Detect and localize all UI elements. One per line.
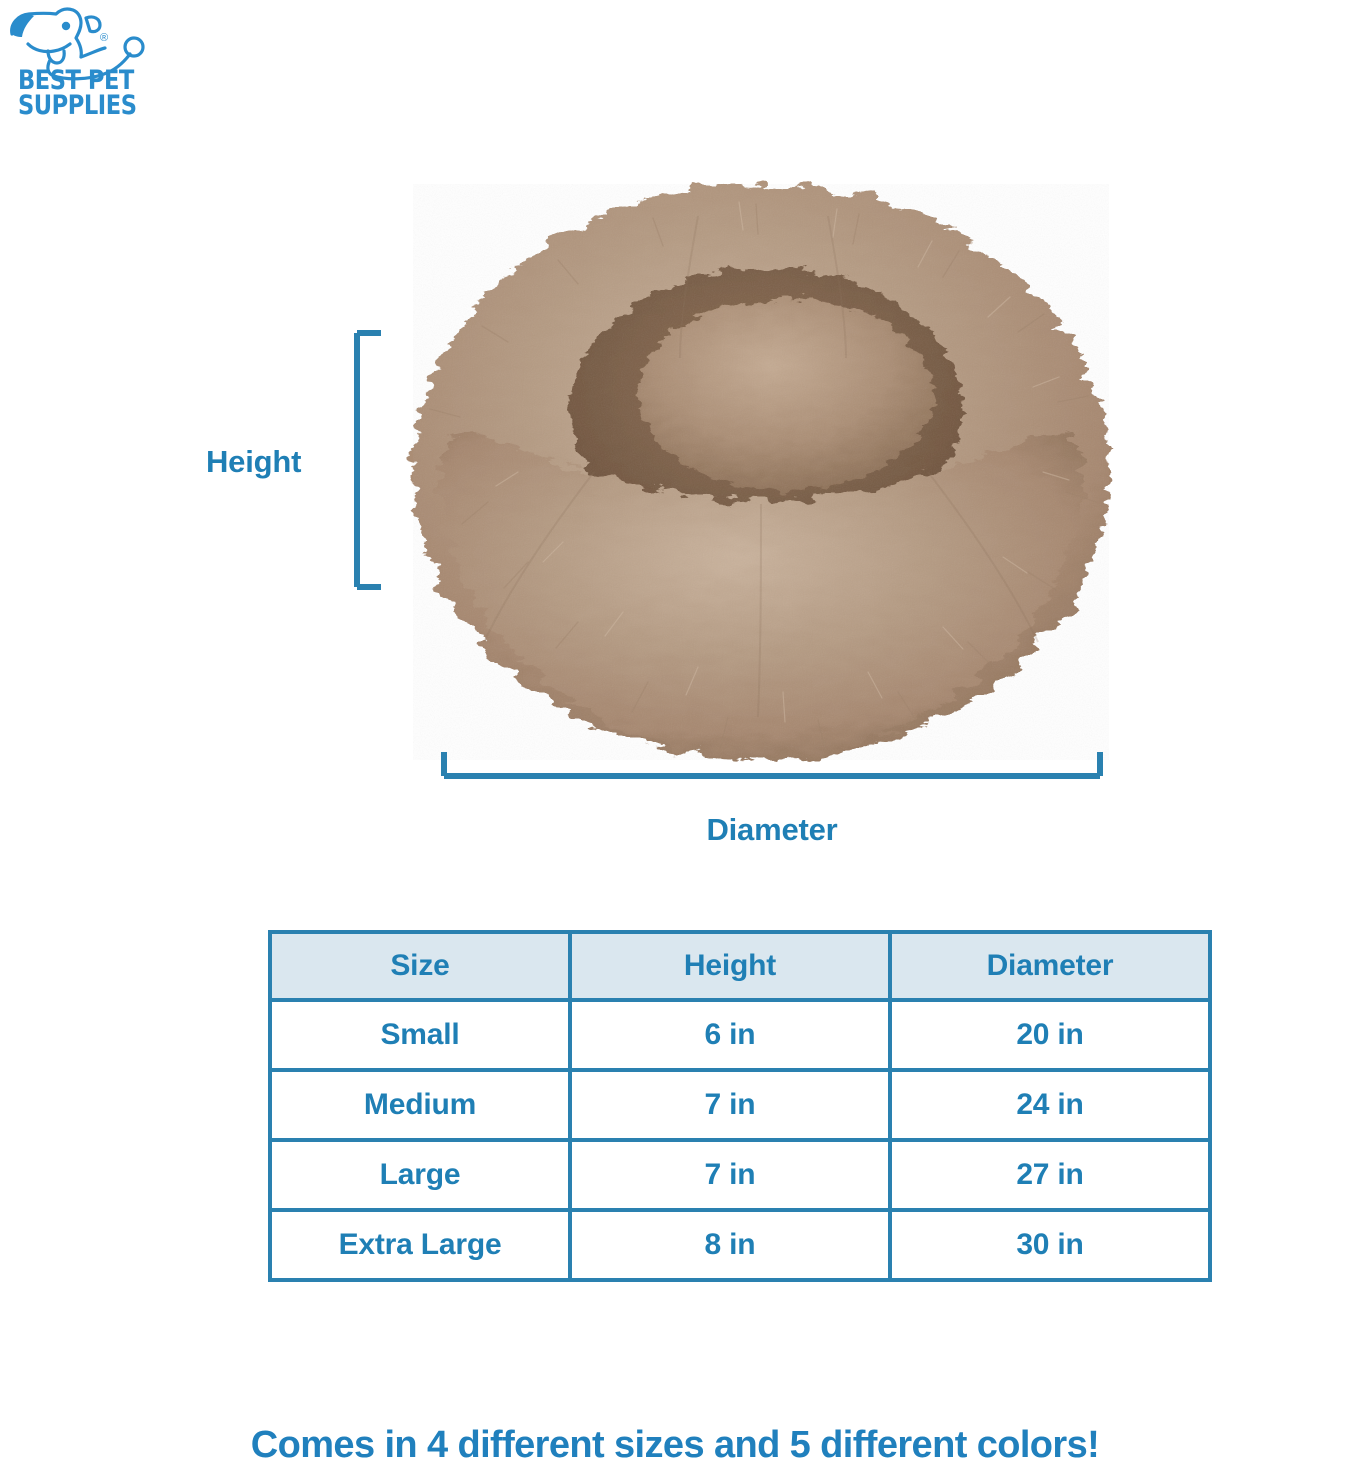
cell-height: 7 in: [570, 1140, 890, 1210]
diameter-bracket: [440, 748, 1104, 780]
column-header-height: Height: [570, 932, 890, 1000]
cell-size: Small: [270, 1000, 570, 1070]
cell-size: Medium: [270, 1070, 570, 1140]
table-row: Medium 7 in 24 in: [270, 1070, 1210, 1140]
height-label: Height: [206, 444, 336, 480]
product-image-pet-bed: [398, 172, 1124, 762]
footer-tagline: Comes in 4 different sizes and 5 differe…: [0, 1424, 1350, 1467]
cell-size: Large: [270, 1140, 570, 1210]
column-header-size: Size: [270, 932, 570, 1000]
pet-bed-illustration: [398, 172, 1124, 762]
cell-diameter: 30 in: [890, 1210, 1210, 1280]
column-header-diameter: Diameter: [890, 932, 1210, 1000]
table-header-row: Size Height Diameter: [270, 932, 1210, 1000]
cell-size: Extra Large: [270, 1210, 570, 1280]
brand-wordmark-line2: SUPPLIES: [18, 93, 185, 118]
cell-height: 6 in: [570, 1000, 890, 1070]
cell-height: 8 in: [570, 1210, 890, 1280]
cell-diameter: 27 in: [890, 1140, 1210, 1210]
table-row: Small 6 in 20 in: [270, 1000, 1210, 1070]
cell-diameter: 24 in: [890, 1070, 1210, 1140]
registered-trademark-symbol: ®: [100, 32, 108, 44]
diameter-label: Diameter: [440, 812, 1104, 848]
brand-wordmark: BEST PET SUPPLIES: [18, 68, 185, 118]
table-row: Extra Large 8 in 30 in: [270, 1210, 1210, 1280]
cell-diameter: 20 in: [890, 1000, 1210, 1070]
table-row: Large 7 in 27 in: [270, 1140, 1210, 1210]
brand-logo: ® BEST PET SUPPLIES: [4, 4, 204, 134]
size-chart-table: Size Height Diameter Small 6 in 20 in Me…: [268, 930, 1212, 1282]
height-bracket: [352, 330, 384, 590]
cell-height: 7 in: [570, 1070, 890, 1140]
